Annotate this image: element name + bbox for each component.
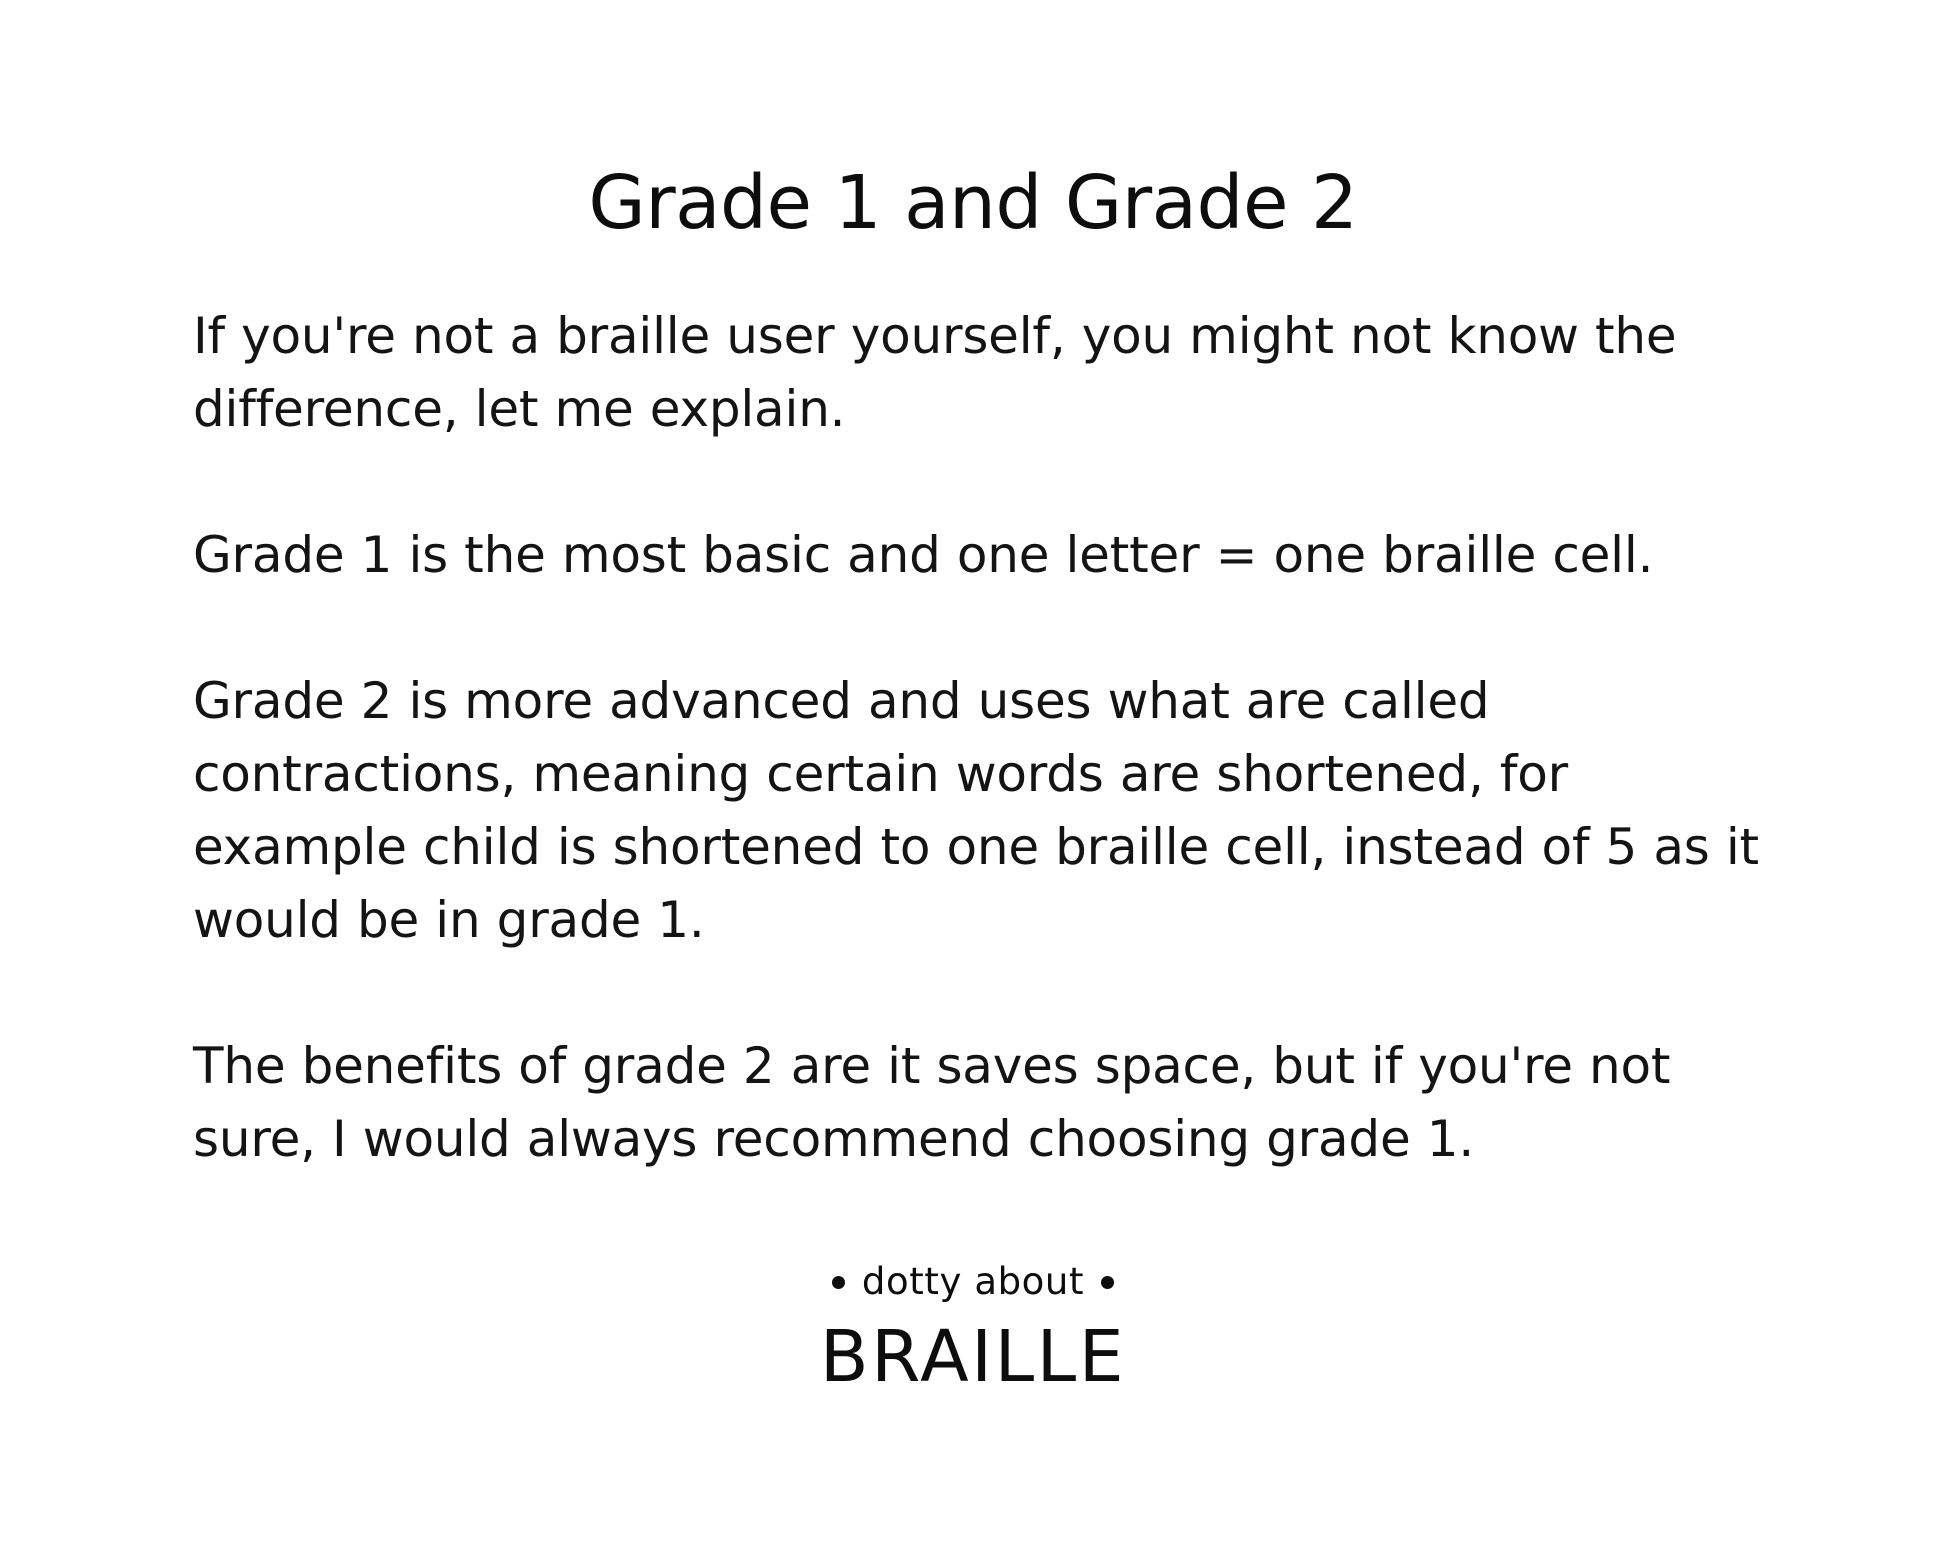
logo-tagline-text: dotty about	[862, 1262, 1084, 1303]
slide-canvas: Grade 1 and Grade 2 If you're not a brai…	[0, 0, 1946, 1557]
paragraph-grade-1: Grade 1 is the most basic and one letter…	[193, 519, 1773, 592]
body-text-block: If you're not a braille user yourself, y…	[193, 300, 1773, 1176]
logo-wordmark: BRAILLE	[0, 1315, 1946, 1399]
title-block: Grade 1 and Grade 2	[0, 112, 1946, 294]
bullet-dot-right-icon	[1101, 1276, 1114, 1289]
logo-tagline-row: dotty about	[0, 1262, 1946, 1303]
bullet-dot-left-icon	[832, 1276, 845, 1289]
paragraph-benefits: The benefits of grade 2 are it saves spa…	[193, 1030, 1773, 1176]
paragraph-intro: If you're not a braille user yourself, y…	[193, 300, 1773, 446]
brand-logo: dotty about BRAILLE	[0, 1262, 1946, 1398]
page-title: Grade 1 and Grade 2	[588, 162, 1357, 245]
paragraph-grade-2: Grade 2 is more advanced and uses what a…	[193, 665, 1773, 957]
